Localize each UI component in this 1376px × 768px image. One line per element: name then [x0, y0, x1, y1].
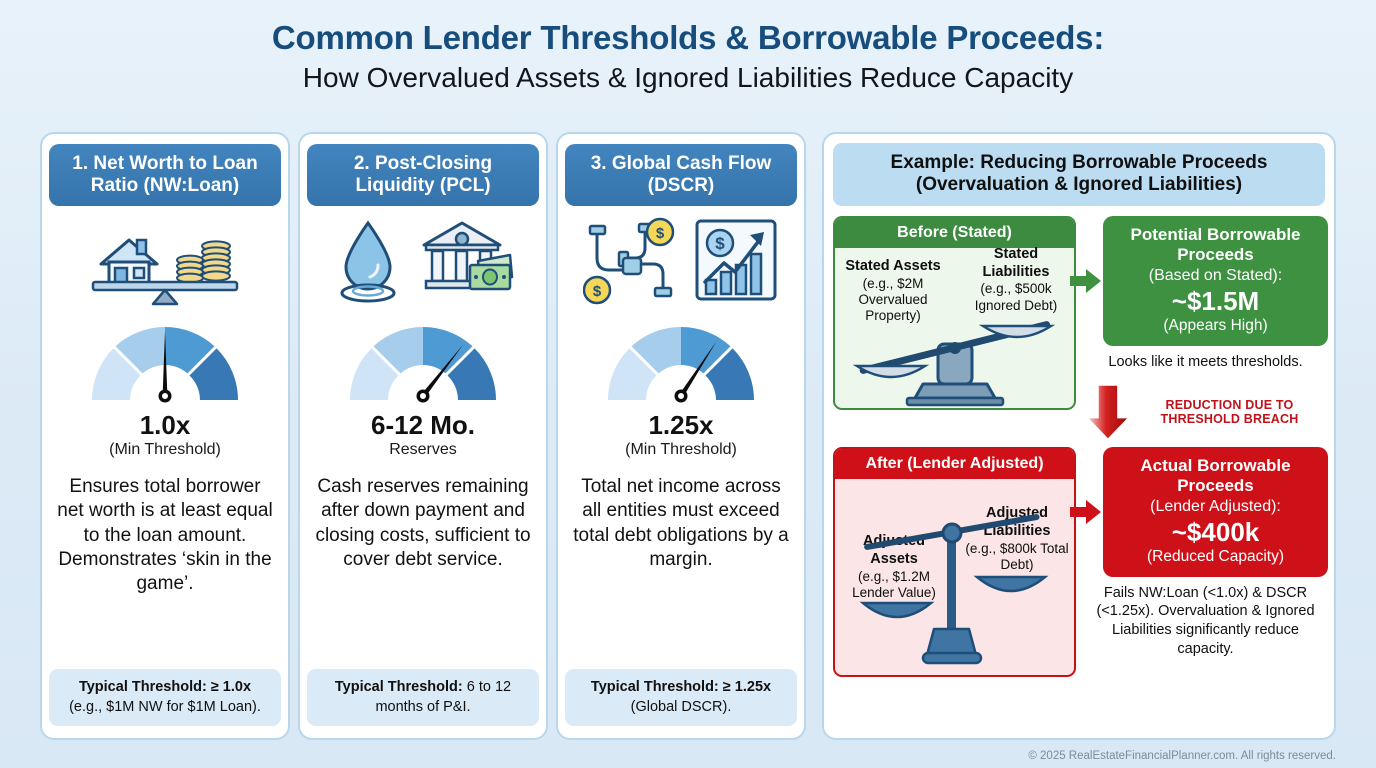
before-title: Before (Stated): [835, 218, 1074, 248]
card-description: Cash reserves remaining after down payme…: [310, 475, 536, 669]
svg-text:$: $: [593, 283, 602, 300]
metric-value: 1.25x: [648, 412, 713, 438]
gauge-pcl: [340, 314, 506, 406]
potential-proceeds-column: Potential Borrowable Proceeds (Based on …: [1086, 216, 1325, 451]
gauge-nw-loan: [82, 314, 248, 406]
before-scale-column: Before (Stated) Stated Assets (e.g., $2M…: [833, 216, 1076, 451]
card-header: 3. Global Cash Flow (DSCR): [565, 144, 797, 206]
card-header: 1. Net Worth to Loan Ratio (NW:Loan): [49, 144, 281, 206]
potential-proceeds-note: (Appears High): [1109, 317, 1322, 336]
actual-proceeds-sub: (Lender Adjusted):: [1109, 497, 1322, 516]
after-state-box: After (Lender Adjusted) Adjusted Assets …: [833, 447, 1076, 677]
card-global-cash-flow[interactable]: 3. Global Cash Flow (DSCR) $ $: [556, 132, 806, 740]
after-row: After (Lender Adjusted) Adjusted Assets …: [833, 447, 1325, 677]
after-title: After (Lender Adjusted): [835, 449, 1074, 479]
card-icon-row: $ $ $: [568, 206, 794, 314]
svg-text:$: $: [656, 225, 665, 242]
svg-text:$: $: [715, 234, 725, 253]
metric-value: 1.0x: [140, 412, 191, 438]
threshold-cards-row: 1. Net Worth to Loan Ratio (NW:Loan): [40, 132, 806, 740]
page-title: Common Lender Thresholds & Borrowable Pr…: [0, 20, 1376, 57]
metric-sublabel: (Min Threshold): [625, 441, 737, 459]
growth-chart-icon: $: [693, 216, 779, 304]
actual-proceeds-box: Actual Borrowable Proceeds (Lender Adjus…: [1103, 447, 1328, 577]
card-post-closing-liquidity[interactable]: 2. Post-Closing Liquidity (PCL): [298, 132, 548, 740]
example-header: Example: Reducing Borrowable Proceeds (O…: [833, 143, 1325, 206]
potential-proceeds-caption: Looks like it meets thresholds.: [1108, 353, 1302, 372]
potential-proceeds-sub: (Based on Stated):: [1109, 266, 1322, 285]
before-tilted-scale-icon: [835, 248, 1076, 408]
arrow-right-green-icon: [1069, 264, 1103, 298]
threshold-box: Typical Threshold: 6 to 12 months of P&I…: [307, 669, 539, 726]
arrow-down-red-icon: [1086, 373, 1130, 451]
before-scale-body: Stated Assets (e.g., $2M Overvalued Prop…: [835, 248, 1074, 408]
reduction-note: REDUCTION DUE TO THRESHOLD BREACH: [1134, 398, 1325, 427]
gauge-wrap: [340, 314, 506, 406]
card-net-worth-to-loan[interactable]: 1. Net Worth to Loan Ratio (NW:Loan): [40, 132, 290, 740]
after-scale-column: After (Lender Adjusted) Adjusted Assets …: [833, 447, 1076, 677]
actual-proceeds-title: Actual Borrowable Proceeds: [1109, 456, 1322, 496]
pipes-icon: $ $: [583, 214, 679, 306]
threshold-box: Typical Threshold: ≥ 1.0x (e.g., $1M NW …: [49, 669, 281, 726]
balance-scale-icon: [89, 212, 241, 308]
threshold-box: Typical Threshold: ≥ 1.25x (Global DSCR)…: [565, 669, 797, 726]
threshold-value: 6 to 12: [463, 679, 511, 695]
water-drop-icon: [332, 215, 404, 305]
potential-proceeds-title: Potential Borrowable Proceeds: [1109, 225, 1322, 265]
actual-proceeds-column: Actual Borrowable Proceeds (Lender Adjus…: [1086, 447, 1325, 677]
example-panel: Example: Reducing Borrowable Proceeds (O…: [822, 132, 1336, 740]
actual-proceeds-amount: ~$400k: [1109, 518, 1322, 548]
threshold-note: (e.g., $1M NW for $1M Loan).: [69, 699, 261, 715]
threshold-value: ≥ 1.25x: [719, 679, 771, 695]
card-description: Total net income across all entities mus…: [568, 475, 794, 669]
title-block: Common Lender Thresholds & Borrowable Pr…: [0, 0, 1376, 94]
footer-copyright: © 2025 RealEstateFinancialPlanner.com. A…: [1028, 750, 1336, 762]
metric-sublabel: (Min Threshold): [109, 441, 221, 459]
actual-proceeds-caption: Fails NW:Loan (<1.0x) & DSCR (<1.25x). O…: [1086, 584, 1325, 658]
actual-proceeds-note: (Reduced Capacity): [1109, 548, 1322, 567]
before-state-box: Before (Stated) Stated Assets (e.g., $2M…: [833, 216, 1076, 410]
threshold-value: ≥ 1.0x: [207, 679, 251, 695]
threshold-label: Typical Threshold:: [591, 679, 719, 695]
threshold-label: Typical Threshold:: [79, 679, 207, 695]
card-header: 2. Post-Closing Liquidity (PCL): [307, 144, 539, 206]
card-icon-row: [310, 206, 536, 314]
card-description: Ensures total borrower net worth is at l…: [52, 475, 278, 669]
gauge-wrap: [598, 314, 764, 406]
threshold-note: months of P&I.: [375, 699, 470, 715]
metric-sublabel: Reserves: [389, 441, 457, 459]
gauge-wrap: [82, 314, 248, 406]
card-icon-row: [52, 206, 278, 314]
before-row: Before (Stated) Stated Assets (e.g., $2M…: [833, 216, 1325, 451]
potential-proceeds-box: Potential Borrowable Proceeds (Based on …: [1103, 216, 1328, 346]
arrow-right-red-icon: [1069, 495, 1103, 529]
page-subtitle: How Overvalued Assets & Ignored Liabilit…: [0, 62, 1376, 94]
potential-proceeds-amount: ~$1.5M: [1109, 287, 1322, 317]
bank-icon: [418, 215, 514, 305]
threshold-label: Typical Threshold:: [335, 679, 463, 695]
metric-value: 6-12 Mo.: [371, 412, 475, 438]
reduction-zone: REDUCTION DUE TO THRESHOLD BREACH: [1086, 373, 1325, 451]
after-balance-scale-icon: [835, 479, 1076, 675]
threshold-note: (Global DSCR).: [631, 699, 732, 715]
after-scale-body: Adjusted Assets (e.g., $1.2M Lender Valu…: [835, 479, 1074, 675]
gauge-dscr: [598, 314, 764, 406]
